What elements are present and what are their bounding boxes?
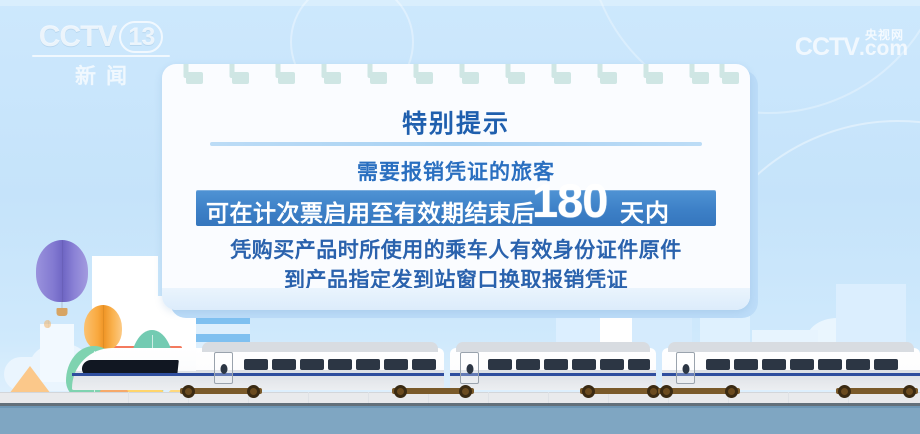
train-door (214, 352, 233, 384)
small-balloon (44, 320, 51, 328)
bogie (580, 385, 662, 398)
cctv-com-brand: CCTV (795, 33, 859, 61)
cctv-com-watermark: 央视网 CCTV.com (795, 26, 908, 61)
card-subtitle: 需要报销凭证的旅客 (162, 156, 750, 186)
highlight-suffix-text: 天内 (620, 193, 670, 228)
card-footer-band (162, 288, 750, 310)
cctv13-channel-logo: CCTV13 新闻 (26, 20, 176, 90)
logo-underline (32, 55, 170, 57)
bogie (392, 385, 474, 398)
train-door (676, 352, 695, 384)
screenshot-canvas: 特别提示 需要报销凭证的旅客 可在计次票启用至有效期结束后 180 天内 凭购买… (0, 0, 920, 434)
highlight-number: 180 (532, 176, 607, 226)
notice-card: 特别提示 需要报销凭证的旅客 可在计次票启用至有效期结束后 180 天内 凭购买… (162, 64, 750, 310)
train-car (662, 348, 920, 390)
train-car (450, 348, 656, 390)
card-pin-row (162, 64, 750, 98)
purple-balloon (36, 240, 88, 302)
cctv-logo-text: CCTV (39, 20, 117, 53)
train-car (196, 348, 444, 390)
card-title: 特别提示 (162, 104, 750, 140)
train-door (460, 352, 479, 384)
building-band (196, 334, 250, 342)
highlight-prefix-text: 可在计次票启用至有效期结束后 (206, 194, 535, 228)
bogie (658, 385, 740, 398)
channel-subtitle: 新闻 (26, 60, 176, 90)
highlight-block: 可在计次票启用至有效期结束后 180 天内 (196, 190, 716, 226)
cctv-com-suffix: .com (859, 37, 908, 60)
channel-number: 13 (119, 21, 163, 53)
ground-band (0, 406, 920, 434)
card-body-line-1: 凭购买产品时所使用的乘车人有效身份证件原件 (162, 234, 750, 264)
title-divider (210, 142, 702, 146)
bogie (836, 385, 918, 398)
high-speed-train (0, 342, 920, 398)
bogie (180, 385, 262, 398)
